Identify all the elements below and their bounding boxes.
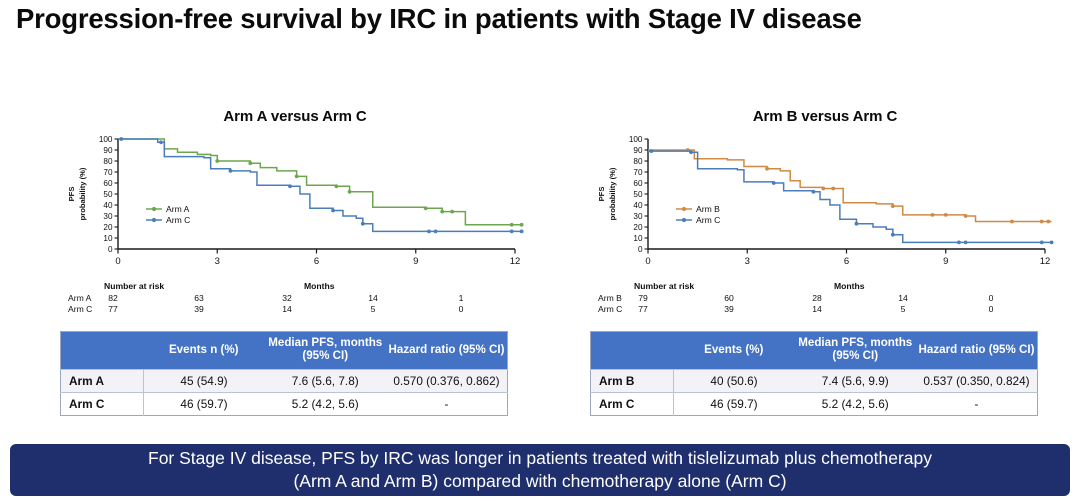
svg-text:0: 0 xyxy=(638,245,643,254)
risk-value: 77 xyxy=(96,304,130,314)
svg-text:80: 80 xyxy=(103,157,113,166)
svg-text:40: 40 xyxy=(633,201,643,210)
svg-text:30: 30 xyxy=(633,212,643,221)
svg-text:90: 90 xyxy=(633,146,643,155)
svg-text:60: 60 xyxy=(103,179,113,188)
risk-row-label: Arm A xyxy=(68,293,91,303)
svg-text:0: 0 xyxy=(115,256,120,267)
table-cell-median: 5.2 (4.2, 5.6) xyxy=(265,392,387,415)
chart-title-right: Arm B versus Arm C xyxy=(590,108,1060,125)
km-chart-right: 0102030405060708090100036912PFSprobabili… xyxy=(590,131,1060,279)
risk-value: 60 xyxy=(712,293,746,303)
chart-title-left: Arm A versus Arm C xyxy=(60,108,530,125)
table-cell-events: 40 (50.6) xyxy=(673,369,795,392)
km-plot-right-svg: 0102030405060708090100036912PFSprobabili… xyxy=(590,131,1060,279)
svg-text:0: 0 xyxy=(645,256,650,267)
risk-value: 14 xyxy=(270,304,304,314)
table-header-hazard-ratio-text: Hazard ratio (95% CI) xyxy=(919,343,1035,356)
table-header-row: Events (%) Median PFS, months (95% CI) H… xyxy=(591,332,1038,370)
svg-text:20: 20 xyxy=(633,223,643,232)
panel-arm-a-vs-c: Arm A versus Arm C 010203040506070809010… xyxy=(60,108,530,438)
svg-text:100: 100 xyxy=(99,135,113,144)
summary-banner: For Stage IV disease, PFS by IRC was lon… xyxy=(10,444,1070,496)
svg-text:12: 12 xyxy=(1040,256,1051,267)
table-row: Arm A 45 (54.9) 7.6 (5.6, 7.8) 0.570 (0.… xyxy=(61,369,508,392)
table-cell-median: 5.2 (4.2, 5.6) xyxy=(795,392,917,415)
number-at-risk-left: Number at risk Months Arm A 82 63 32 14 … xyxy=(60,281,530,329)
risk-row: Arm C 77 39 14 5 0 xyxy=(590,304,1060,316)
banner-line-2: (Arm A and Arm B) compared with chemothe… xyxy=(148,470,932,493)
risk-value: 28 xyxy=(800,293,834,303)
table-cell-hazard-ratio: - xyxy=(916,392,1038,415)
svg-text:Arm C: Arm C xyxy=(696,215,720,225)
svg-text:6: 6 xyxy=(314,256,319,267)
results-table-right: Events (%) Median PFS, months (95% CI) H… xyxy=(590,331,1038,416)
table-cell-median: 7.4 (5.6, 9.9) xyxy=(795,369,917,392)
svg-text:100: 100 xyxy=(629,135,643,144)
svg-text:6: 6 xyxy=(844,256,849,267)
risk-row-label: Arm B xyxy=(598,293,622,303)
risk-value: 5 xyxy=(356,304,390,314)
svg-text:PFS: PFS xyxy=(67,187,76,202)
risk-row-label: Arm C xyxy=(68,304,92,314)
svg-text:50: 50 xyxy=(633,190,643,199)
table-cell-hazard-ratio: - xyxy=(386,392,508,415)
number-at-risk-right: Number at risk Months Arm B 79 60 28 14 … xyxy=(590,281,1060,329)
table-header-median-pfs-text: Median PFS, months (95% CI) xyxy=(268,336,382,362)
svg-text:PFS: PFS xyxy=(597,187,606,202)
table-row: Arm C 46 (59.7) 5.2 (4.2, 5.6) - xyxy=(61,392,508,415)
km-chart-left: 0102030405060708090100036912PFSprobabili… xyxy=(60,131,530,279)
risk-value: 0 xyxy=(974,304,1008,314)
table-cell-hazard-ratio: 0.570 (0.376, 0.862) xyxy=(386,369,508,392)
table-header-blank xyxy=(591,332,674,370)
table-row: Arm C 46 (59.7) 5.2 (4.2, 5.6) - xyxy=(591,392,1038,415)
table-cell-median: 7.6 (5.6, 7.8) xyxy=(265,369,387,392)
svg-text:20: 20 xyxy=(103,223,113,232)
risk-row: Arm C 77 39 14 5 0 xyxy=(60,304,530,316)
svg-text:9: 9 xyxy=(413,256,418,267)
table-cell-events: 46 (59.7) xyxy=(143,392,265,415)
table-cell-arm: Arm C xyxy=(61,392,144,415)
svg-text:90: 90 xyxy=(103,146,113,155)
risk-value: 1 xyxy=(444,293,478,303)
svg-text:0: 0 xyxy=(108,245,113,254)
risk-value: 39 xyxy=(712,304,746,314)
svg-text:50: 50 xyxy=(103,190,113,199)
table-header-events: Events n (%) xyxy=(143,332,265,370)
svg-text:10: 10 xyxy=(633,234,643,243)
table-header-events-text: Events n (%) xyxy=(169,343,239,356)
table-cell-events: 46 (59.7) xyxy=(673,392,795,415)
panel-arm-b-vs-c: Arm B versus Arm C 010203040506070809010… xyxy=(590,108,1060,438)
svg-text:12: 12 xyxy=(510,256,521,267)
svg-text:Arm A: Arm A xyxy=(166,204,190,214)
number-at-risk-heading: Number at risk xyxy=(634,281,694,291)
table-cell-events: 45 (54.9) xyxy=(143,369,265,392)
results-table-left: Events n (%) Median PFS, months (95% CI)… xyxy=(60,331,508,416)
table-header-hazard-ratio-text: Hazard ratio (95% CI) xyxy=(389,343,505,356)
svg-text:3: 3 xyxy=(215,256,220,267)
table-header-hazard-ratio: Hazard ratio (95% CI) xyxy=(386,332,508,370)
risk-value: 0 xyxy=(974,293,1008,303)
svg-text:60: 60 xyxy=(633,179,643,188)
svg-text:40: 40 xyxy=(103,201,113,210)
svg-text:3: 3 xyxy=(745,256,750,267)
table-header-blank xyxy=(61,332,144,370)
months-axis-label: Months xyxy=(304,281,335,291)
table-cell-arm: Arm B xyxy=(591,369,674,392)
table-header-median-pfs-text: Median PFS, months (95% CI) xyxy=(798,336,912,362)
risk-value: 14 xyxy=(356,293,390,303)
svg-text:9: 9 xyxy=(943,256,948,267)
table-header-hazard-ratio: Hazard ratio (95% CI) xyxy=(916,332,1038,370)
svg-text:Arm C: Arm C xyxy=(166,215,190,225)
risk-value: 77 xyxy=(626,304,660,314)
svg-text:probability (%): probability (%) xyxy=(608,167,617,220)
svg-text:probability (%): probability (%) xyxy=(78,167,87,220)
table-header-row: Events n (%) Median PFS, months (95% CI)… xyxy=(61,332,508,370)
svg-text:30: 30 xyxy=(103,212,113,221)
risk-value: 5 xyxy=(886,304,920,314)
table-cell-arm: Arm A xyxy=(61,369,144,392)
page-title: Progression-free survival by IRC in pati… xyxy=(16,2,916,36)
table-header-median-pfs: Median PFS, months (95% CI) xyxy=(795,332,917,370)
svg-text:70: 70 xyxy=(633,168,643,177)
number-at-risk-heading: Number at risk xyxy=(104,281,164,291)
risk-value: 14 xyxy=(800,304,834,314)
risk-value: 32 xyxy=(270,293,304,303)
km-plot-left-svg: 0102030405060708090100036912PFSprobabili… xyxy=(60,131,530,279)
table-row: Arm B 40 (50.6) 7.4 (5.6, 9.9) 0.537 (0.… xyxy=(591,369,1038,392)
risk-value: 14 xyxy=(886,293,920,303)
svg-text:70: 70 xyxy=(103,168,113,177)
svg-text:80: 80 xyxy=(633,157,643,166)
table-header-events-text: Events (%) xyxy=(704,343,763,356)
risk-row-label: Arm C xyxy=(598,304,622,314)
table-cell-hazard-ratio: 0.537 (0.350, 0.824) xyxy=(916,369,1038,392)
banner-line-1: For Stage IV disease, PFS by IRC was lon… xyxy=(148,447,932,470)
risk-value: 82 xyxy=(96,293,130,303)
risk-value: 79 xyxy=(626,293,660,303)
risk-value: 39 xyxy=(182,304,216,314)
table-header-median-pfs: Median PFS, months (95% CI) xyxy=(265,332,387,370)
table-header-events: Events (%) xyxy=(673,332,795,370)
svg-text:10: 10 xyxy=(103,234,113,243)
risk-value: 0 xyxy=(444,304,478,314)
months-axis-label: Months xyxy=(834,281,865,291)
table-cell-arm: Arm C xyxy=(591,392,674,415)
svg-text:Arm B: Arm B xyxy=(696,204,720,214)
risk-value: 63 xyxy=(182,293,216,303)
